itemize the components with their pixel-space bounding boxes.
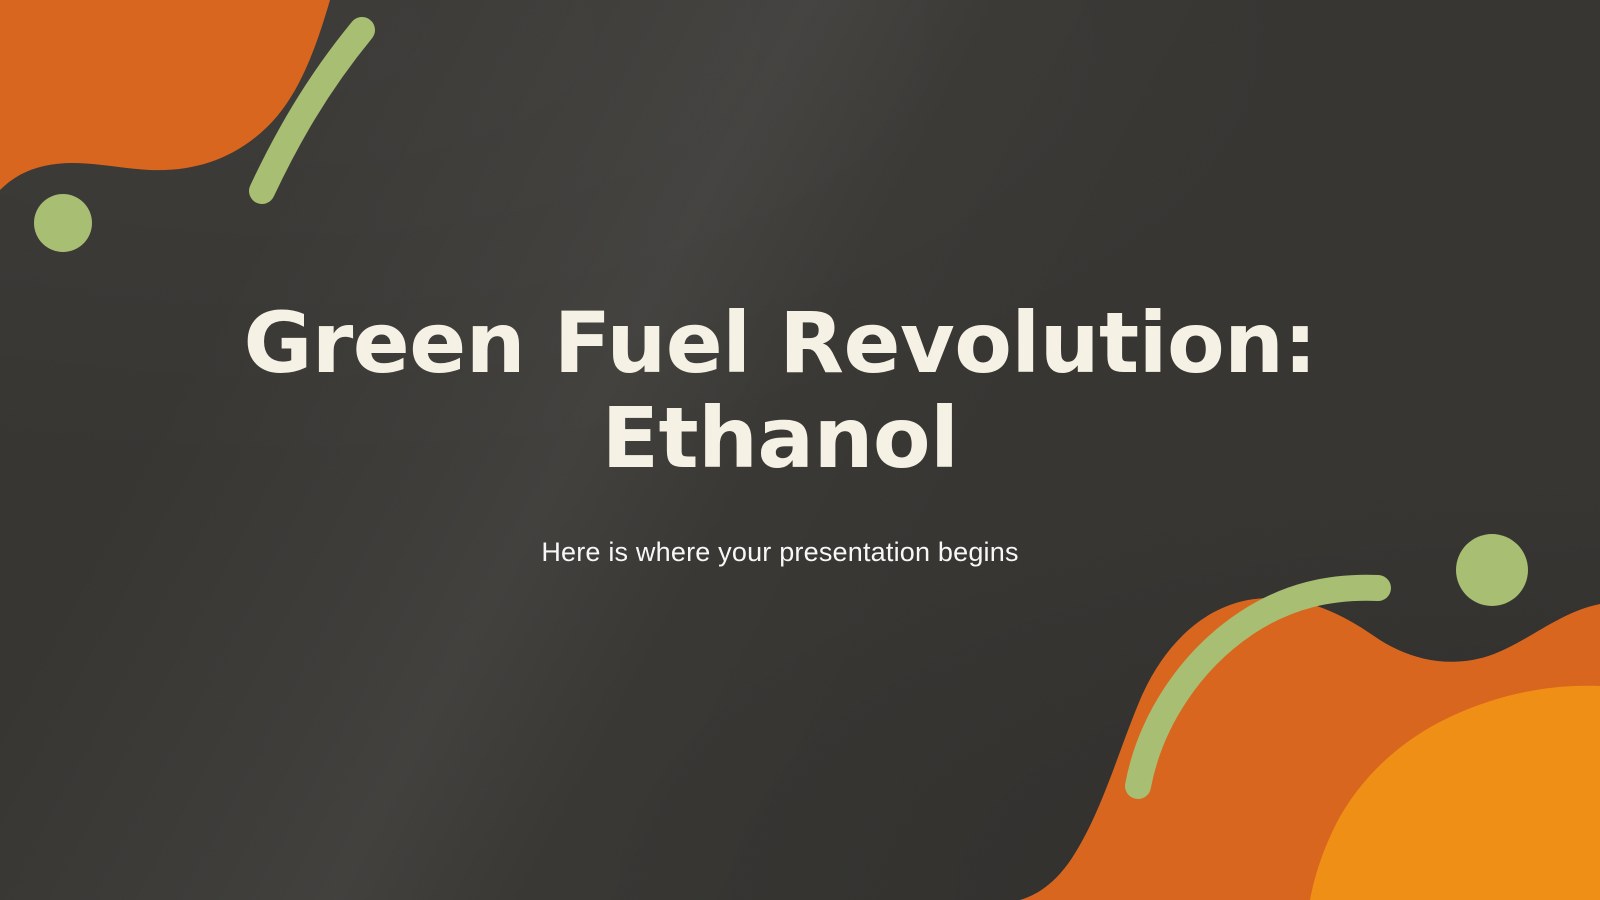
slide-subtitle: Here is where your presentation begins	[541, 537, 1018, 568]
title-slide: Green Fuel Revolution: Ethanol Here is w…	[0, 0, 1600, 900]
page-title: Green Fuel Revolution: Ethanol	[243, 296, 1316, 484]
slide-content: Green Fuel Revolution: Ethanol Here is w…	[0, 0, 1560, 900]
